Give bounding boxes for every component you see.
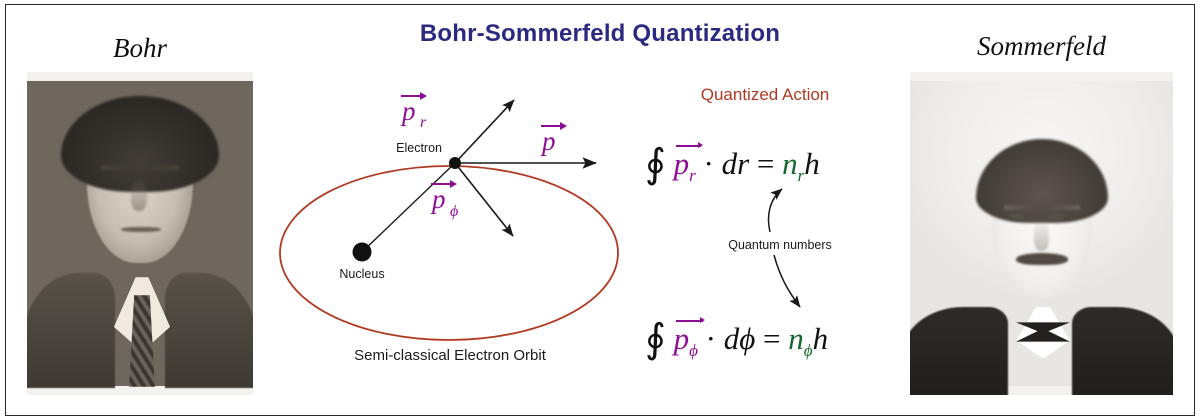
nose: [131, 181, 147, 211]
eyebrows: [101, 165, 179, 170]
figure-canvas: Bohr-Sommerfeld Quantization Bohr Sommer…: [0, 0, 1200, 420]
nucleus-label: Nucleus: [339, 267, 384, 281]
arrow-to-nr: [769, 189, 783, 232]
p-angular-label: p ϕ: [430, 180, 458, 220]
nucleus-dot: [353, 243, 372, 262]
svg-text:ϕ: ϕ: [450, 203, 458, 220]
nose: [1034, 221, 1049, 251]
electron-label: Electron: [396, 141, 442, 155]
svg-text:p: p: [430, 184, 446, 214]
p-radial-arrow: [455, 100, 514, 163]
equations-heading: Quantized Action: [630, 85, 900, 105]
eye-left: [1009, 213, 1024, 220]
shoulder-left: [910, 307, 1008, 395]
arrow-to-nphi: [774, 255, 800, 307]
portrait-photo-bohr: [27, 72, 253, 395]
mouth: [121, 227, 161, 232]
photo-plate: [27, 81, 253, 386]
portrait-label-bohr: Bohr: [27, 33, 253, 64]
portrait-photo-sommerfeld: [910, 72, 1173, 395]
svg-text:p: p: [540, 126, 556, 156]
photo-plate: [910, 81, 1173, 386]
mustache: [1016, 253, 1068, 265]
eye-right: [146, 173, 162, 180]
svg-text:r: r: [420, 114, 427, 131]
p-radial-label: p r: [400, 92, 427, 131]
eye-left: [106, 173, 122, 180]
hair: [61, 96, 219, 192]
p-total-label: p: [540, 122, 567, 156]
portrait-label-sommerfeld: Sommerfeld: [910, 31, 1173, 62]
eyebrows: [1004, 205, 1080, 210]
eye-right: [1048, 213, 1063, 220]
electron-dot: [449, 157, 461, 169]
shoulder-right: [165, 273, 253, 388]
p-angular-arrow: [455, 163, 513, 236]
shoulder-right: [1072, 307, 1173, 395]
hair: [976, 139, 1108, 223]
orbit-caption: Semi-classical Electron Orbit: [354, 347, 547, 364]
electron-orbit-ellipse: [280, 166, 618, 340]
annotation-arrows: [630, 175, 900, 335]
shoulder-left: [27, 273, 115, 388]
svg-text:p: p: [400, 96, 416, 126]
orbit-diagram: Electron Nucleus Semi-classical Electron…: [270, 72, 630, 372]
